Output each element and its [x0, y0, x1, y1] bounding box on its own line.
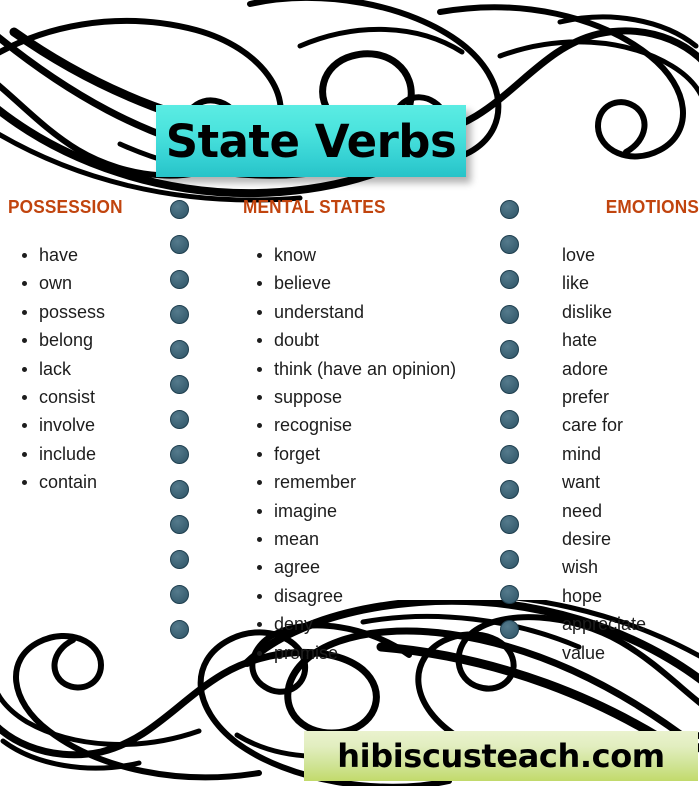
- verb-item: involve: [8, 411, 158, 439]
- verb-item: agree: [243, 553, 483, 581]
- title-banner: State Verbs: [156, 105, 466, 177]
- verb-item: value: [562, 639, 699, 667]
- column-emotions: EMOTIONS lovelikedislikehateadorepreferc…: [562, 196, 699, 667]
- verb-item: hate: [562, 326, 699, 354]
- column-heading-emotions: EMOTIONS: [572, 196, 699, 218]
- verb-item: understand: [243, 298, 483, 326]
- verb-item: dislike: [562, 298, 699, 326]
- verb-item: mind: [562, 440, 699, 468]
- verb-item: love: [562, 241, 699, 269]
- column-heading-possession: POSSESSION: [8, 196, 148, 218]
- verb-item: include: [8, 440, 158, 468]
- verb-item: care for: [562, 411, 699, 439]
- verb-item: mean: [243, 525, 483, 553]
- verb-item: remember: [243, 468, 483, 496]
- footer-banner: hibiscusteach.com: [304, 731, 698, 781]
- verb-item: imagine: [243, 497, 483, 525]
- verb-item: belong: [8, 326, 158, 354]
- verb-item: hope: [562, 582, 699, 610]
- verb-item: believe: [243, 269, 483, 297]
- column-heading-mental-states: MENTAL STATES: [243, 196, 466, 218]
- verb-item: know: [243, 241, 483, 269]
- verb-item: recognise: [243, 411, 483, 439]
- verb-item: adore: [562, 355, 699, 383]
- verb-item: forget: [243, 440, 483, 468]
- verb-item: like: [562, 269, 699, 297]
- verb-item: want: [562, 468, 699, 496]
- page-title: State Verbs: [166, 119, 457, 164]
- verb-columns: POSSESSION haveownpossessbelonglackconsi…: [0, 196, 699, 656]
- verb-item: consist: [8, 383, 158, 411]
- verb-item: possess: [8, 298, 158, 326]
- verb-item: doubt: [243, 326, 483, 354]
- verb-item: lack: [8, 355, 158, 383]
- column-possession: POSSESSION haveownpossessbelonglackconsi…: [8, 196, 158, 497]
- verb-item: suppose: [243, 383, 483, 411]
- verb-item: wish: [562, 553, 699, 581]
- verb-list-mental-states: knowbelieveunderstanddoubtthink (have an…: [243, 241, 483, 667]
- verb-item: have: [8, 241, 158, 269]
- site-url: hibiscusteach.com: [337, 740, 664, 772]
- verb-item: disagree: [243, 582, 483, 610]
- infographic-page: State Verbs POSSESSION haveownpossessbel…: [0, 0, 699, 786]
- verb-item: need: [562, 497, 699, 525]
- verb-list-emotions: lovelikedislikehateadoreprefercare formi…: [562, 241, 699, 667]
- verb-item: prefer: [562, 383, 699, 411]
- verb-item: own: [8, 269, 158, 297]
- verb-item: contain: [8, 468, 158, 496]
- verb-item: think (have an opinion): [243, 355, 483, 383]
- verb-item: desire: [562, 525, 699, 553]
- verb-item: promise: [243, 639, 483, 667]
- verb-item: deny: [243, 610, 483, 638]
- verb-item: appreciate: [562, 610, 699, 638]
- verb-list-possession: haveownpossessbelonglackconsistinvolvein…: [8, 241, 158, 497]
- column-mental-states: MENTAL STATES knowbelieveunderstanddoubt…: [243, 196, 483, 667]
